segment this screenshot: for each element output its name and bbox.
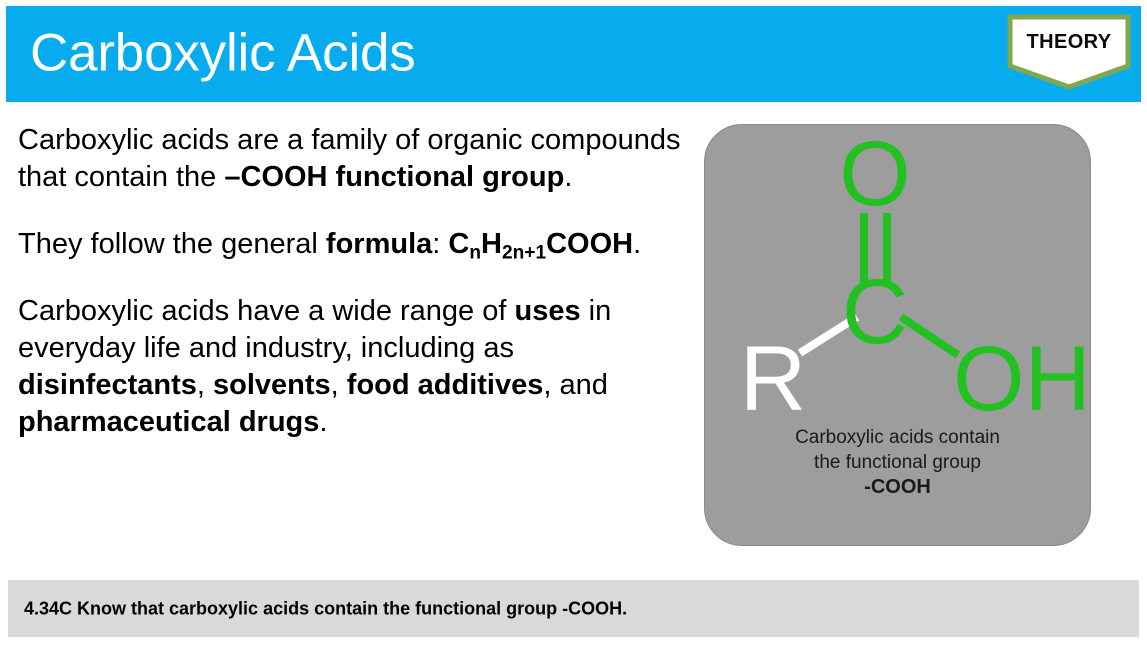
paragraph-definition: Carboxylic acids are a family of organic… [18, 122, 682, 196]
theory-badge: THEORY [1007, 14, 1131, 90]
page-title: Carboxylic Acids [30, 26, 416, 79]
paragraph-uses: Carboxylic acids have a wide range of us… [18, 293, 682, 441]
atom-label-c: C [842, 261, 908, 363]
figure-caption-line-1: Carboxylic acids contain [705, 425, 1090, 450]
bond-c-to-oh [901, 317, 958, 355]
molecular-structure-diagram: O C R OH [705, 125, 1090, 425]
figure-caption: Carboxylic acids contain the functional … [705, 425, 1090, 500]
figure-caption-line-2: the functional group [705, 450, 1090, 475]
footer-bar: 4.34C Know that carboxylic acids contain… [8, 580, 1139, 637]
figure-panel: O C R OH Carboxylic acids contain the fu… [704, 124, 1091, 546]
slide: Carboxylic Acids THEORY Carboxylic acids… [0, 0, 1147, 645]
atom-label-r: R [740, 328, 806, 425]
atom-label-o: O [839, 125, 911, 225]
atom-label-oh: OH [953, 328, 1090, 425]
figure-caption-line-3: -COOH [705, 475, 1090, 500]
title-bar: Carboxylic Acids [6, 6, 1141, 102]
theory-badge-label: THEORY [1007, 31, 1131, 54]
learning-objective-text: 4.34C Know that carboxylic acids contain… [24, 598, 627, 619]
paragraph-general-formula: They follow the general formula: CnH2n+1… [18, 226, 682, 263]
body-text-column: Carboxylic acids are a family of organic… [18, 122, 682, 441]
